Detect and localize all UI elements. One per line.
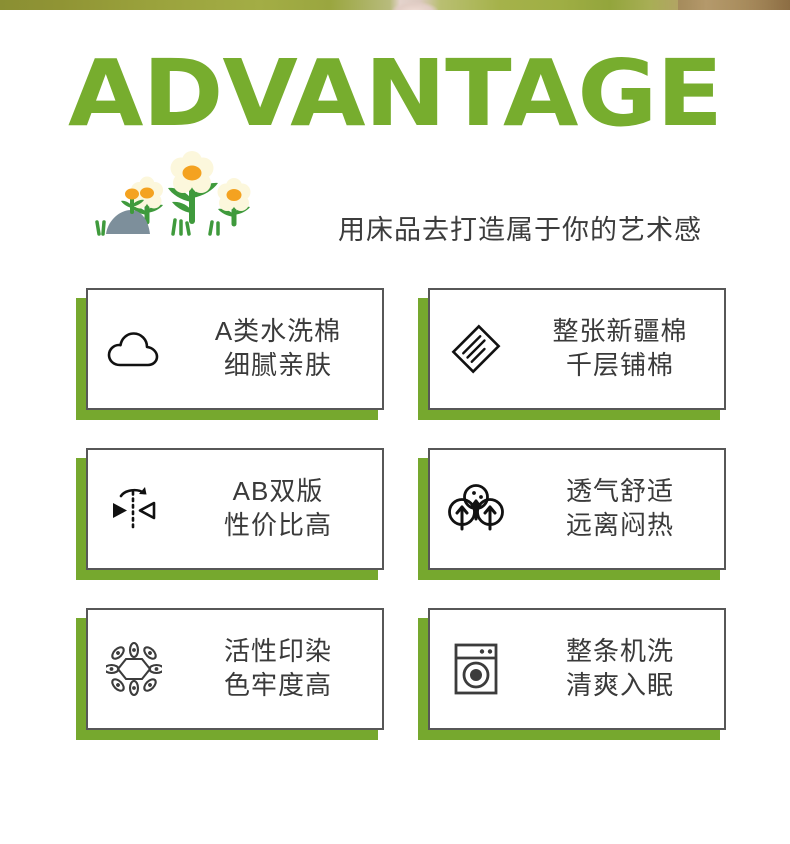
card-line-1: 整条机洗 bbox=[566, 636, 674, 666]
advantage-card-6[interactable]: 整条机洗 清爽入眠 bbox=[410, 600, 726, 745]
washing-machine-icon bbox=[430, 610, 522, 728]
card-text: 整张新疆棉 千层铺棉 bbox=[522, 315, 724, 383]
card-line-2: 千层铺棉 bbox=[522, 349, 718, 383]
card-line-2: 色牢度高 bbox=[180, 669, 376, 703]
card-line-1: 整张新疆棉 bbox=[552, 316, 687, 346]
cloud-icon bbox=[88, 290, 180, 408]
page-title: ADVANTAGE bbox=[0, 48, 790, 140]
card-body: A类水洗棉 细腻亲肤 bbox=[86, 288, 384, 410]
advantage-card-2[interactable]: 整张新疆棉 千层铺棉 bbox=[410, 280, 726, 425]
floral-ornament-icon bbox=[88, 610, 180, 728]
advantage-card-3[interactable]: AB双版 性价比高 bbox=[68, 440, 384, 585]
flower-small-right bbox=[218, 178, 251, 224]
photo-strip-highlight-left bbox=[392, 0, 438, 10]
card-line-1: 活性印染 bbox=[224, 636, 332, 666]
card-line-2: 细腻亲肤 bbox=[180, 349, 376, 383]
card-text: A类水洗棉 细腻亲肤 bbox=[180, 315, 382, 383]
card-line-1: A类水洗棉 bbox=[215, 316, 341, 346]
card-body: AB双版 性价比高 bbox=[86, 448, 384, 570]
card-line-2: 清爽入眠 bbox=[522, 669, 718, 703]
photo-strip-highlight-right bbox=[678, 0, 790, 10]
breathable-airflow-icon bbox=[430, 450, 522, 568]
advantage-card-5[interactable]: 活性印染 色牢度高 bbox=[68, 600, 384, 745]
card-line-1: 透气舒适 bbox=[566, 476, 674, 506]
advantage-card-4[interactable]: 透气舒适 远离闷热 bbox=[410, 440, 726, 585]
card-body: 整张新疆棉 千层铺棉 bbox=[428, 288, 726, 410]
card-body: 透气舒适 远离闷热 bbox=[428, 448, 726, 570]
page-subtitle: 用床品去打造属于你的艺术感 bbox=[330, 208, 710, 247]
card-line-1: AB双版 bbox=[233, 476, 324, 506]
flower-large bbox=[168, 151, 218, 221]
header: ADVANTAGE bbox=[0, 10, 790, 265]
top-photo-strip bbox=[0, 0, 790, 10]
card-text: 整条机洗 清爽入眠 bbox=[522, 635, 724, 703]
flip-mirror-icon bbox=[88, 450, 180, 568]
card-text: 透气舒适 远离闷热 bbox=[522, 475, 724, 543]
card-text: 活性印染 色牢度高 bbox=[180, 635, 382, 703]
card-line-2: 性价比高 bbox=[180, 509, 376, 543]
advantage-card-1[interactable]: A类水洗棉 细腻亲肤 bbox=[68, 280, 384, 425]
layered-fabric-icon bbox=[430, 290, 522, 408]
card-line-2: 远离闷热 bbox=[522, 509, 718, 543]
card-body: 活性印染 色牢度高 bbox=[86, 608, 384, 730]
card-text: AB双版 性价比高 bbox=[180, 475, 382, 543]
card-body: 整条机洗 清爽入眠 bbox=[428, 608, 726, 730]
daisy-flowers-illustration bbox=[84, 150, 304, 262]
